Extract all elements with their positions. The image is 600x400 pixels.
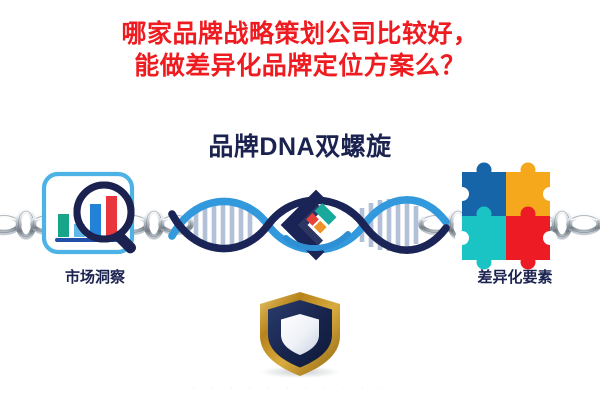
shield-icon: [260, 292, 340, 378]
bar-teal: [58, 214, 69, 237]
section-title: 品牌DNA双螺旋: [0, 127, 600, 163]
caption-market-insight: 市场洞察: [20, 266, 170, 287]
headline-line-2: 能做差异化品牌定位方案么？: [0, 50, 600, 82]
market-insight-icon: [44, 174, 138, 255]
headline-line-1: 哪家品牌战略策划公司比较好，: [0, 18, 600, 50]
caption-differentiation: 差异化要素: [440, 266, 590, 287]
watermark: · · · · · · · · · · · ·: [0, 382, 600, 394]
headline: 哪家品牌战略策划公司比较好， 能做差异化品牌定位方案么？: [0, 18, 600, 82]
puzzle-icon: [455, 163, 557, 270]
poster-canvas: 哪家品牌战略策划公司比较好， 能做差异化品牌定位方案么？ 品牌DNA双螺旋 市场…: [0, 0, 600, 400]
